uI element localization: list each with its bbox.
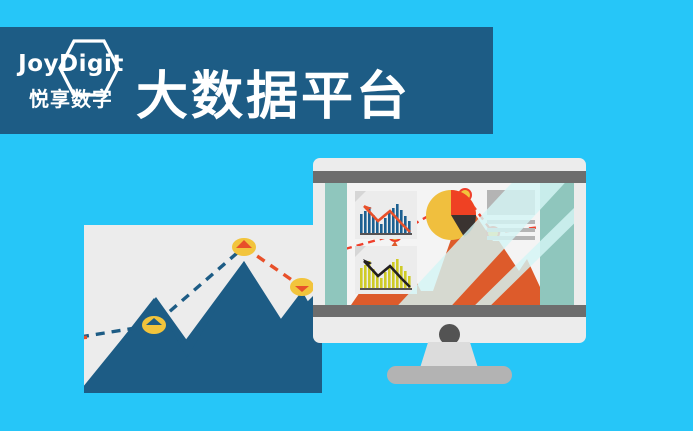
placeholder-image — [487, 190, 535, 215]
logo-wordmark: JoyDigit — [16, 53, 126, 76]
text-placeholder-block — [487, 190, 535, 240]
monitor-stand-base — [387, 366, 512, 384]
brand-logo: JoyDigit 悦享数字 — [16, 37, 126, 125]
placeholder-line — [487, 236, 535, 240]
desktop-monitor — [313, 158, 586, 343]
placeholder-line — [487, 220, 535, 224]
mountain-line-chart-panel — [84, 225, 322, 393]
pie-chart — [425, 189, 477, 241]
screen-side-band-right — [540, 183, 574, 305]
pie-slice-red — [451, 190, 476, 215]
monitor-top-bar — [313, 171, 586, 183]
header-bar: JoyDigit 悦享数字 大数据平台 — [0, 27, 493, 134]
placeholder-line — [487, 228, 535, 232]
monitor-stand-neck — [420, 342, 478, 368]
left-panel-chart-svg — [84, 225, 322, 393]
monitor-power-button[interactable] — [439, 324, 460, 345]
bar-chart-blue-card — [355, 191, 417, 239]
card-fold-corner — [355, 191, 366, 202]
monitor-screen — [325, 183, 574, 305]
bar-chart-yellow-svg — [360, 257, 412, 290]
logo-subtitle: 悦享数字 — [16, 90, 126, 110]
card-fold-corner — [355, 246, 366, 257]
banner-root: JoyDigit 悦享数字 大数据平台 — [0, 0, 693, 431]
monitor-bottom-bar — [313, 305, 586, 317]
bar-chart-blue-svg — [360, 202, 412, 235]
dashboard-content — [347, 183, 540, 305]
page-title: 大数据平台 — [136, 71, 411, 123]
bar-chart-yellow-card — [355, 246, 417, 294]
screen-side-band-left — [325, 183, 347, 305]
